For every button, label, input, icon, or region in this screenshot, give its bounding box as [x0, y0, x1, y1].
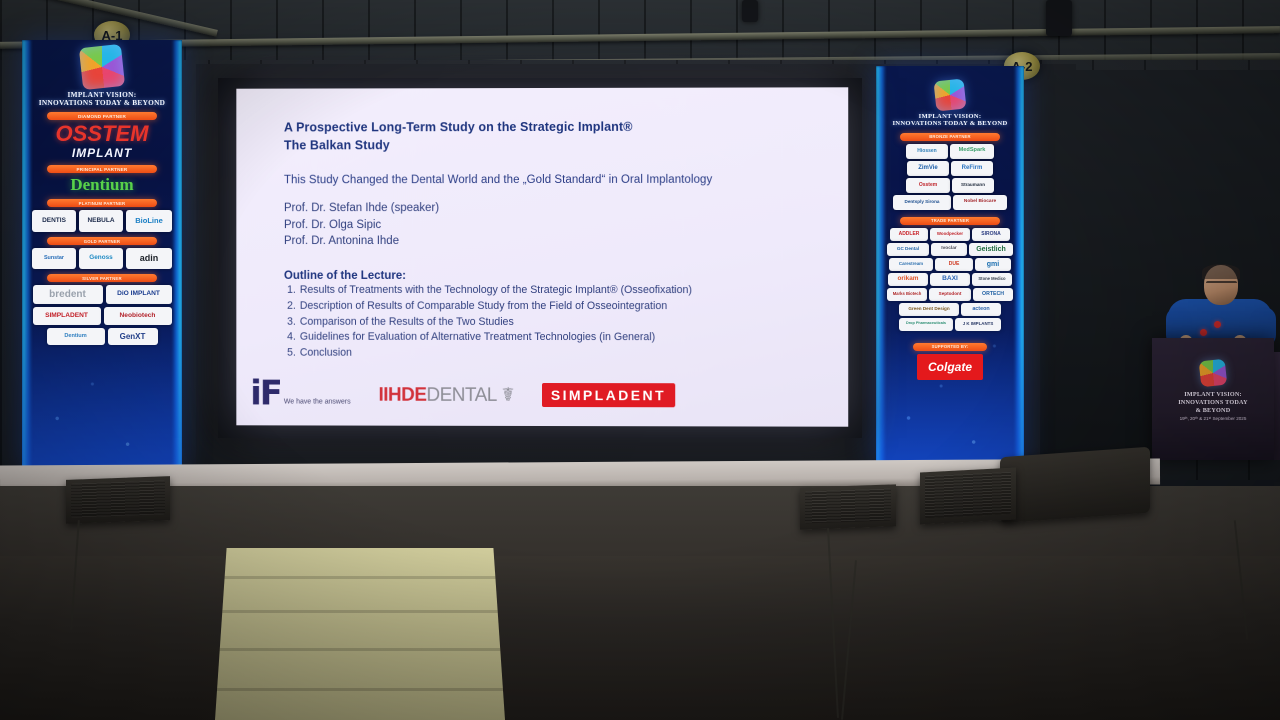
- sponsor-logo-colgate: Colgate: [917, 354, 983, 380]
- sponsor-logo-sirona: SIRONA: [972, 228, 1010, 241]
- outline-text: Guidelines for Evaluation of Alternative…: [300, 330, 655, 346]
- slide-authors: Prof. Dr. Stefan Ihde (speaker) Prof. Dr…: [284, 200, 822, 249]
- iihde-logo-light: DENTAL: [426, 384, 496, 405]
- sponsor-logo-dio-implant: DiO IMPLANT: [106, 285, 172, 304]
- sponsor-logo-septodont: Septodont: [929, 288, 971, 301]
- slide-outline-list: 1.Results of Treatments with the Technol…: [284, 283, 822, 362]
- sponsor-logo-dentsply-sirona: Dentsply Sirona: [893, 195, 951, 210]
- stage-monitor-speaker: [800, 484, 896, 529]
- sponsor-logo-baxi: BAXI: [930, 273, 970, 286]
- outline-text: Comparison of the Results of the Two Stu…: [300, 314, 514, 330]
- sponsor-logo-adin: adin: [126, 248, 172, 269]
- presentation-slide: A Prospective Long-Term Study on the Str…: [236, 87, 848, 426]
- sponsor-logo-stone-medico: Stone Medico: [972, 273, 1012, 286]
- outline-text: Results of Treatments with the Technolog…: [300, 283, 692, 299]
- simpladent-logo: SIMPLADENT: [542, 383, 675, 407]
- tier-label-gold: GOLD PARTNER: [47, 237, 157, 245]
- conference-hall-photo: A-1 A-2 IMPLANT VISION: INNOVATIONS TODA…: [0, 0, 1280, 720]
- sponsor-logo-neobiotech: Neobiotech: [104, 307, 172, 325]
- gold-logo-row: Sunstar Genoss adin: [28, 248, 176, 269]
- sponsor-logo-gmi: gmi: [975, 258, 1011, 271]
- stage-riser-panel: [1000, 447, 1150, 523]
- sponsor-logo-nebula: NEBULA: [79, 210, 123, 232]
- sponsor-logo-ivoclar: Ivoclar: [931, 243, 967, 256]
- sponsor-logo-osstem-sub: IMPLANT: [28, 146, 176, 160]
- tier-label-silver: SILVER PARTNER: [47, 274, 157, 282]
- sponsor-logo-refirm: ReFirm: [951, 161, 993, 176]
- if-logo-mark: iF: [250, 381, 281, 408]
- rigging-point: [1046, 0, 1072, 36]
- slide-subtitle: This Study Changed the Dental World and …: [284, 174, 822, 187]
- caduceus-icon: ☤: [502, 384, 514, 405]
- speaker-glasses: [1206, 281, 1237, 288]
- sponsor-logo-drop-pharmaceuticals: Drop Pharmaceuticals: [899, 318, 953, 331]
- speaker-podium: IMPLANT VISION: INNOVATIONS TODAY & BEYO…: [1152, 338, 1274, 460]
- sponsor-logo-due: DUE: [935, 258, 973, 271]
- sponsor-logo-geistlich: Geistlich: [969, 243, 1013, 256]
- sponsor-logo-acteon: acteon: [961, 303, 1001, 316]
- tier-label-principal: PRINCIPAL PARTNER: [47, 165, 157, 173]
- outline-item: 2.Description of Results of Comparable S…: [284, 299, 822, 315]
- podium-event-date: 19ᵗʰ, 20ᵗʰ & 21ˢᵗ September 2025: [1152, 416, 1274, 421]
- if-logo-tagline: We have the answers: [284, 398, 351, 408]
- sponsor-logo-sunstar: Sunstar: [32, 248, 76, 269]
- sponsor-logo-osstem-bronze: Osstem: [906, 178, 950, 193]
- right-banner-title-line2: INNOVATIONS TODAY & BEYOND: [882, 120, 1018, 127]
- sponsor-logo-carestream: Carestream: [889, 258, 933, 271]
- sponsor-logo-osstem: OSSTEM: [28, 123, 176, 145]
- outline-number: 3.: [284, 314, 296, 330]
- bronze-logo-row: Hiossen MedSpark ZimVie ReFirm Osstem St…: [882, 144, 1018, 210]
- sponsor-logo-medspark: MedSpark: [950, 144, 994, 159]
- outline-item: 1.Results of Treatments with the Technol…: [284, 283, 822, 299]
- podium-title-line3: & BEYOND: [1152, 407, 1274, 415]
- iihde-logo-bold: IIHDE: [378, 384, 426, 405]
- sponsor-logo-orikam: orikam: [888, 273, 928, 286]
- author-line: Prof. Dr. Stefan Ihde (speaker): [284, 200, 822, 217]
- sponsor-logo-bredent: bredent: [33, 285, 103, 304]
- tier-label-platinum: PLATINUM PARTNER: [47, 199, 157, 207]
- stage-front-apron: [0, 556, 1280, 720]
- slide-footer-logos: iF We have the answers IIHDEDENTAL ☤ SIM…: [236, 366, 848, 425]
- outline-item: 4.Guidelines for Evaluation of Alternati…: [284, 330, 822, 346]
- sponsor-logo-bioline: BioLine: [126, 210, 172, 232]
- stage-monitor-speaker: [920, 467, 1016, 524]
- outline-item: 3.Comparison of the Results of the Two S…: [284, 314, 822, 330]
- sponsor-logo-genxt: GenXT: [108, 328, 158, 345]
- sponsor-logo-green-dent-design: Green Dent Design: [899, 303, 959, 316]
- sponsor-logo-gc-dental: GC Dental: [887, 243, 929, 256]
- sponsor-logo-zimvie: ZimVie: [907, 161, 949, 176]
- sponsor-logo-straumann: Straumann: [952, 178, 994, 193]
- speaker-lapel-pin: [1214, 321, 1221, 328]
- tier-label-trade: TRADE PARTNER: [900, 217, 1001, 225]
- outline-text: Conclusion: [300, 346, 352, 362]
- sponsor-logo-marks-biotech: Marks Biotech: [887, 288, 927, 301]
- silver-logo-row: bredent DiO IMPLANT SIMPLADENT Neobiotec…: [28, 285, 176, 345]
- outline-number: 1.: [284, 283, 296, 299]
- tier-label-bronze: BRONZE PARTNER: [900, 133, 1001, 141]
- outline-number: 5.: [284, 346, 296, 362]
- stage-steps-carpet: [215, 548, 505, 720]
- sponsor-logo-dentium-silver: Dentium: [47, 328, 105, 345]
- sponsor-logo-simpladent: SIMPLADENT: [33, 307, 101, 325]
- sponsor-logo-jk-implants: J K IMPLANTS: [955, 318, 1001, 331]
- speaker-lanyard-badge: [1200, 329, 1207, 336]
- author-line: Prof. Dr. Antonina Ihde: [284, 233, 822, 249]
- sponsor-logo-hiossen: Hiossen: [906, 144, 948, 159]
- sponsor-logo-ortech: ORTECH: [973, 288, 1013, 301]
- sponsor-logo-addler: ADDLER: [890, 228, 928, 241]
- sponsor-logo-woodpecker: Woodpecker: [930, 228, 970, 241]
- podium-title-line1: IMPLANT VISION:: [1152, 391, 1274, 399]
- tier-label-diamond: DIAMOND PARTNER: [47, 112, 157, 120]
- rigging-point: [742, 0, 758, 22]
- outline-number: 2.: [284, 299, 296, 315]
- slide-outline-heading: Outline of the Lecture:: [284, 270, 822, 282]
- tier-label-supported-by: SUPPORTED BY:: [913, 343, 986, 351]
- left-sponsor-banner: IMPLANT VISION: INNOVATIONS TODAY & BEYO…: [22, 40, 182, 470]
- author-line: Prof. Dr. Olga Sipic: [284, 216, 822, 233]
- outline-text: Description of Results of Comparable Stu…: [300, 299, 667, 315]
- podium-cube-logo: [1199, 359, 1228, 388]
- podium-title-line2: INNOVATIONS TODAY: [1152, 399, 1274, 407]
- platinum-logo-row: DENTIS NEBULA BioLine: [28, 210, 176, 232]
- slide-title-line1: A Prospective Long-Term Study on the Str…: [284, 117, 822, 136]
- slide-title-line2: The Balkan Study: [284, 136, 822, 155]
- trade-logo-row: ADDLER Woodpecker SIRONA GC Dental Ivocl…: [882, 228, 1018, 331]
- left-banner-title-line2: INNOVATIONS TODAY & BEYOND: [28, 99, 176, 107]
- speaker-person: [1168, 265, 1272, 345]
- sponsor-logo-nobel-biocare: Nobel Biocare: [953, 195, 1007, 210]
- iihde-dental-logo: IIHDEDENTAL ☤: [378, 383, 513, 406]
- outline-item: 5.Conclusion: [284, 346, 822, 362]
- implant-vision-cube-logo: [79, 44, 125, 90]
- sponsor-logo-genoss: Genoss: [79, 248, 123, 269]
- implant-vision-cube-logo: [934, 79, 967, 112]
- right-sponsor-banner: IMPLANT VISION: INNOVATIONS TODAY & BEYO…: [876, 66, 1024, 466]
- stage-monitor-speaker: [66, 476, 170, 524]
- sponsor-logo-dentis: DENTIS: [32, 210, 76, 232]
- outline-number: 4.: [284, 330, 296, 346]
- if-logo: iF We have the answers: [250, 381, 350, 408]
- sponsor-logo-dentium: Dentium: [28, 176, 176, 194]
- speaker-hair: [1202, 264, 1240, 279]
